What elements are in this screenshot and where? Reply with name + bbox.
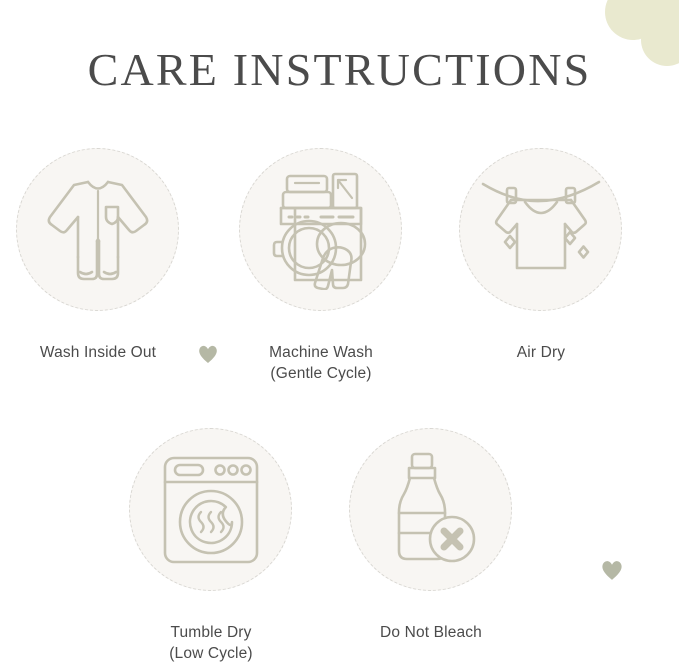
label-sub-text: (Low Cycle) — [121, 643, 301, 664]
tumble-dryer-icon — [159, 454, 263, 566]
heart-accent-icon — [600, 558, 624, 587]
label-main-text: Do Not Bleach — [380, 624, 482, 641]
label-air-dry: Air Dry — [451, 342, 631, 363]
clothesline-tshirt-icon — [481, 172, 601, 288]
label-machine-wash: Machine Wash (Gentle Cycle) — [231, 342, 411, 384]
label-main-text: Wash Inside Out — [40, 344, 156, 361]
label-do-not-bleach: Do Not Bleach — [341, 622, 521, 643]
icon-circle-wash-inside-out — [16, 148, 179, 311]
icon-circle-do-not-bleach — [349, 428, 512, 591]
label-main-text: Machine Wash — [269, 344, 373, 361]
icon-circle-tumble-dry — [129, 428, 292, 591]
label-sub-text: (Gentle Cycle) — [231, 363, 411, 384]
icon-circle-air-dry — [459, 148, 622, 311]
label-wash-inside-out: Wash Inside Out — [8, 342, 188, 363]
care-instructions-poster: CARE INSTRUCTIONS — [0, 0, 679, 668]
washing-machine-icon — [265, 170, 377, 290]
label-tumble-dry: Tumble Dry (Low Cycle) — [121, 622, 301, 664]
page-title: CARE INSTRUCTIONS — [0, 43, 679, 96]
heart-divider-icon — [197, 343, 219, 370]
label-main-text: Tumble Dry — [170, 624, 251, 641]
no-bleach-bottle-icon — [381, 451, 481, 569]
label-main-text: Air Dry — [517, 344, 565, 361]
baby-onesie-icon — [44, 171, 152, 289]
icon-circle-machine-wash — [239, 148, 402, 311]
